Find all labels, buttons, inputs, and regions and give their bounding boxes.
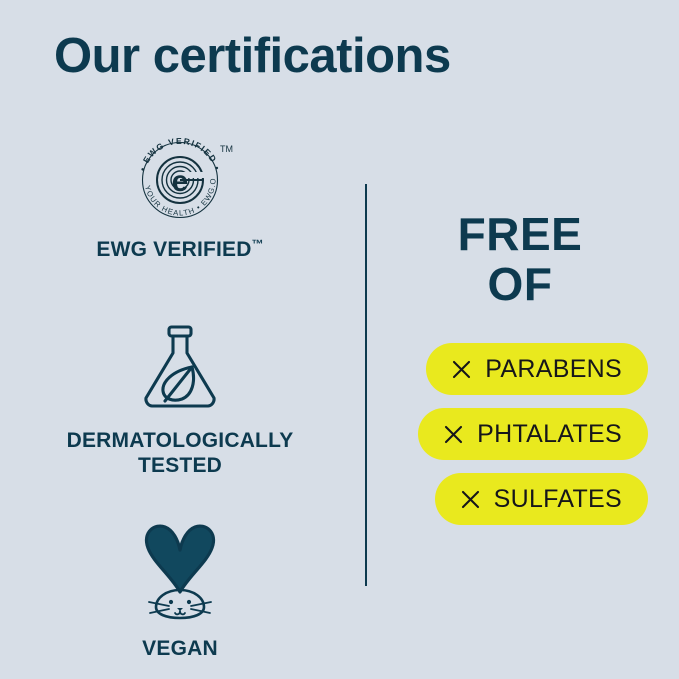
free-of-item-parabens: PARABENS xyxy=(426,343,648,395)
vegan-bunny-heart-icon xyxy=(125,520,235,625)
certification-label-ewg: EWG VERIFIED™ xyxy=(96,237,263,263)
cert-label-line-2: TESTED xyxy=(67,454,294,479)
vertical-divider xyxy=(365,184,367,586)
free-of-item-phtalates: PHTALATES xyxy=(418,408,648,460)
free-of-heading: FREE OF xyxy=(380,210,660,309)
free-of-item-label: PHTALATES xyxy=(477,420,622,449)
free-of-item-label: SULFATES xyxy=(494,485,622,514)
trademark-mark: TM xyxy=(220,144,233,154)
free-of-item-sulfates: SULFATES xyxy=(435,473,648,525)
free-of-heading-line-2: OF xyxy=(380,260,660,310)
free-of-item-label: PARABENS xyxy=(485,355,622,384)
cert-label-line-1: DERMATOLOGICALLY xyxy=(67,429,294,454)
certification-label-vegan: VEGAN xyxy=(142,637,218,662)
svg-text:e: e xyxy=(172,165,189,198)
x-icon xyxy=(444,425,463,444)
free-of-list: PARABENS PHTALATES SULFATES xyxy=(380,343,660,525)
x-icon xyxy=(452,360,471,379)
certification-item-dermatologically-tested: DERMATOLOGICALLY TESTED xyxy=(0,320,360,479)
cert-label-text: EWG VERIFIED xyxy=(96,238,251,261)
certification-item-ewg: • EWG VERIFIED • FOR YOUR HEALTH • EWG.O… xyxy=(0,128,360,263)
certifications-panel: Our certifications • EWG VERIFIED • xyxy=(0,0,679,679)
free-of-heading-line-1: FREE xyxy=(380,210,660,260)
trademark-symbol: ™ xyxy=(252,237,264,251)
page-title: Our certifications xyxy=(54,30,451,84)
flask-leaf-icon xyxy=(132,320,228,417)
certifications-list: • EWG VERIFIED • FOR YOUR HEALTH • EWG.O… xyxy=(0,128,360,662)
free-of-section: FREE OF PARABENS PHTALATES xyxy=(380,210,660,525)
certification-item-vegan: VEGAN xyxy=(0,520,360,662)
certification-label-dermatologically-tested: DERMATOLOGICALLY TESTED xyxy=(67,429,294,479)
ewg-verified-badge-icon: • EWG VERIFIED • FOR YOUR HEALTH • EWG.O… xyxy=(124,128,236,225)
x-icon xyxy=(461,490,480,509)
